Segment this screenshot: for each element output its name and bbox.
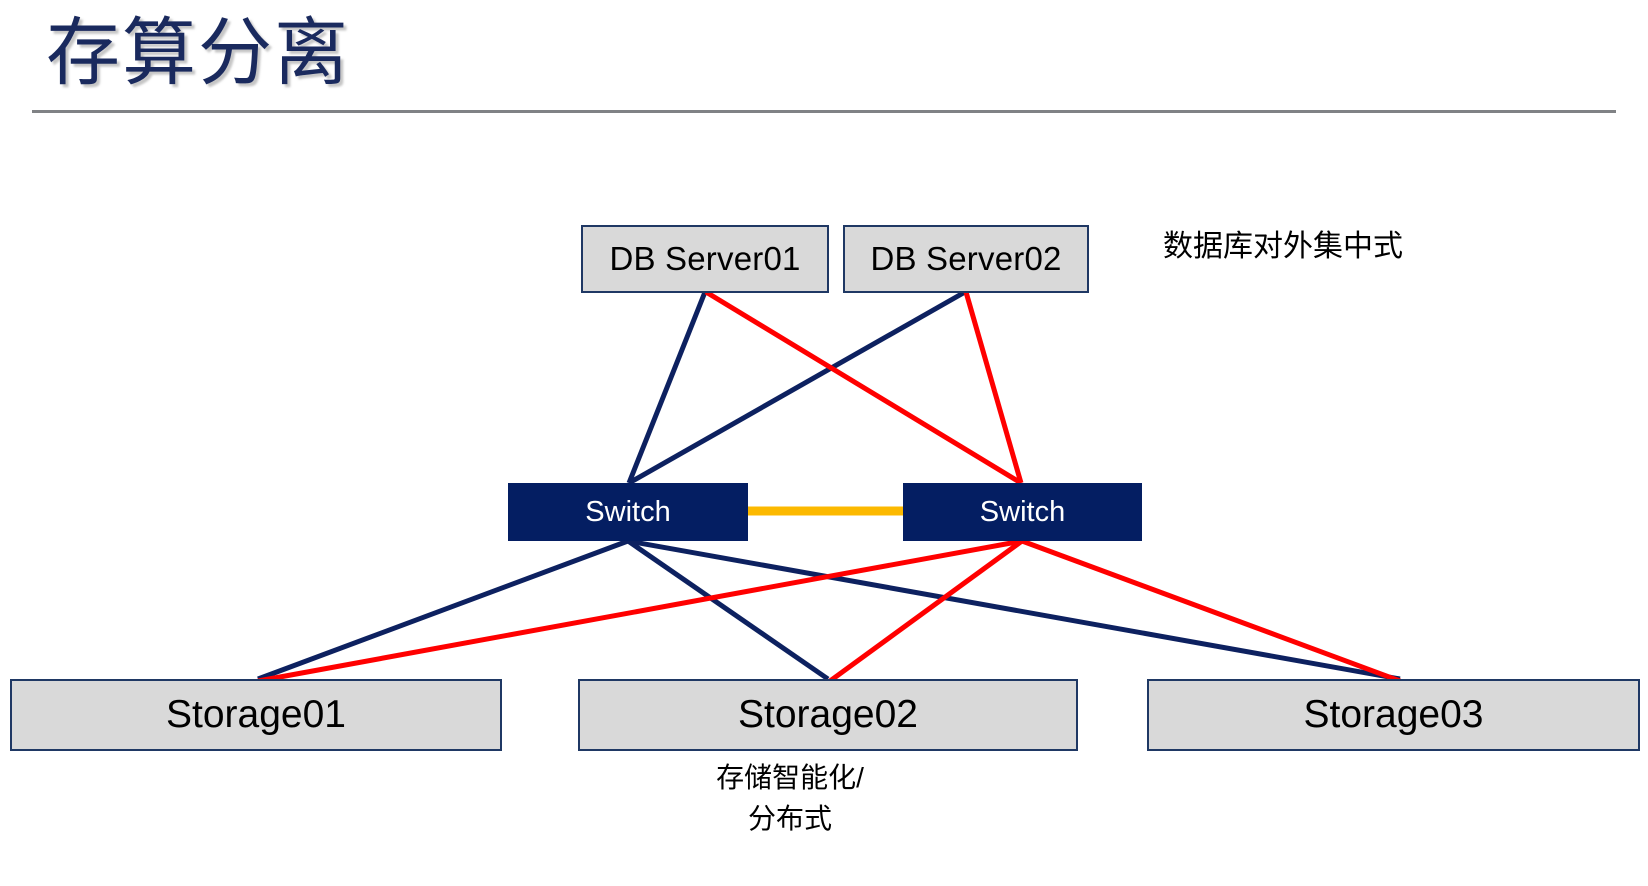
db-server-02-box[interactable]: DB Server02: [843, 225, 1089, 293]
storage-02-label: Storage02: [738, 693, 918, 737]
annotation-database-centralized: 数据库对外集中式: [1163, 225, 1403, 269]
switch-left-box[interactable]: Switch: [508, 483, 748, 541]
slide-canvas: 存算分离 DB Server01 D: [0, 0, 1648, 886]
link-switch-right-storage02: [830, 541, 1022, 681]
annotation-storage-distributed: 存储智能化/ 分布式: [640, 757, 940, 839]
link-server02-switch-left: [629, 292, 965, 483]
switch-left-label: Switch: [585, 496, 670, 529]
db-server-02-label: DB Server02: [870, 240, 1061, 278]
storage-02-box[interactable]: Storage02: [578, 679, 1078, 751]
connection-lines: [0, 0, 1648, 886]
link-server01-switch-left: [629, 292, 705, 483]
link-switch-right-storage01: [258, 541, 1022, 681]
switch-right-label: Switch: [980, 496, 1065, 529]
storage-01-box[interactable]: Storage01: [10, 679, 502, 751]
db-server-01-label: DB Server01: [609, 240, 800, 278]
storage-01-label: Storage01: [166, 693, 346, 737]
link-switch-left-storage01: [258, 541, 628, 679]
db-server-01-box[interactable]: DB Server01: [581, 225, 829, 293]
link-switch-left-storage03: [628, 541, 1400, 679]
storage-03-box[interactable]: Storage03: [1147, 679, 1640, 751]
link-switch-right-storage03: [1022, 541, 1400, 681]
storage-03-label: Storage03: [1304, 693, 1484, 737]
switch-right-box[interactable]: Switch: [903, 483, 1142, 541]
architecture-diagram: DB Server01 DB Server02 Switch Switch St…: [0, 0, 1648, 886]
